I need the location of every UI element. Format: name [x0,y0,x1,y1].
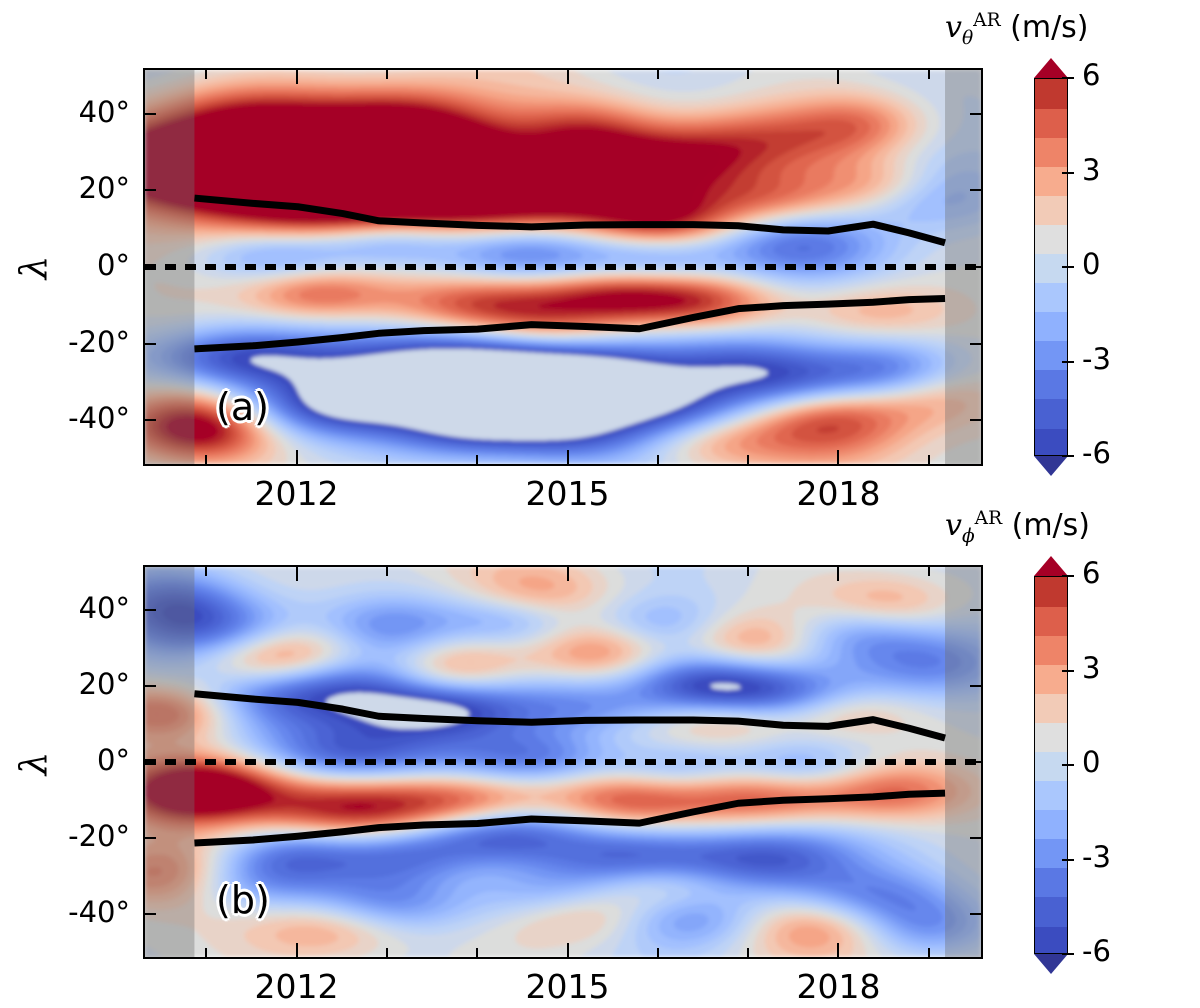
colorbar-tick [1062,859,1074,861]
colorbar-band [1035,195,1067,225]
title-sup-a: AR [973,10,1000,31]
x-tick-minor [386,68,388,79]
x-tick-minor [476,68,478,79]
x-tick-label: 2015 [498,474,638,513]
colorbar-tick [1062,670,1074,672]
colorbar-b-arrow-bottom [1034,954,1068,974]
y-tick-label: 0° [18,248,130,282]
x-tick-major [837,68,839,84]
colorbar-tick-label: 0 [1082,745,1100,779]
x-tick-minor [476,948,478,959]
colorbar-tick-label: 3 [1082,651,1100,685]
x-tick-major [837,450,839,466]
y-tick [970,343,983,345]
colorbar-tick [1062,361,1074,363]
colorbar-band [1035,693,1067,723]
y-tick [970,609,983,611]
x-tick-minor [386,948,388,959]
y-tick [970,685,983,687]
x-tick-major [837,565,839,581]
panel-a-contour-field [145,70,981,464]
colorbar-band [1035,722,1067,752]
figure-root: vθAR (m/s) λ (a) 40°20°0°-20°-40°2012201… [0,0,1200,1008]
colorbar-band [1035,79,1067,109]
colorbar-band [1035,751,1067,781]
title-unit-a: (m/s) [1010,10,1088,45]
y-tick-label: 0° [18,743,130,777]
y-tick [143,189,156,191]
title-sub-b: ϕ [962,526,975,547]
y-tick [143,913,156,915]
x-tick-major [567,68,569,84]
y-tick [970,189,983,191]
colorbar-tick-label: -3 [1082,840,1111,874]
x-tick-minor [386,565,388,576]
panel-a-tag: (a) [216,385,269,429]
title-sub-a: θ [962,28,973,49]
colorbar-a-arrow-bottom [1034,456,1068,476]
colorbar-band [1035,283,1067,313]
y-tick-label: 20° [18,171,130,205]
x-tick-major [567,943,569,959]
panel-a-plot-area [143,68,983,466]
colorbar-tick-label: 6 [1082,556,1100,590]
x-tick-minor [928,455,930,466]
x-tick-label: 2012 [227,474,367,513]
y-tick [970,761,983,763]
y-tick-label: -40° [18,895,130,929]
colorbar-band [1035,897,1067,927]
x-tick-minor [928,68,930,79]
colorbar-tick-label: 3 [1082,153,1100,187]
x-tick-minor [928,565,930,576]
x-tick-major [567,565,569,581]
y-tick [143,419,156,421]
y-tick [143,266,156,268]
x-tick-major [296,565,298,581]
panel-b-tag: (b) [216,878,270,922]
x-tick-minor [205,948,207,959]
y-tick-label: 40° [18,591,130,625]
x-tick-minor [657,68,659,79]
colorbar-band [1035,781,1067,811]
colorbar-a-arrow-top [1034,58,1068,78]
title-sup-b: AR [975,508,1002,529]
colorbar-tick-label: 0 [1082,247,1100,281]
x-tick-label: 2018 [768,967,908,1006]
x-tick-minor [205,455,207,466]
colorbar-band [1035,606,1067,636]
colorbar-band [1035,108,1067,138]
x-tick-label: 2018 [768,474,908,513]
y-tick [143,609,156,611]
colorbar-band [1035,399,1067,429]
y-tick-label: -40° [18,401,130,435]
x-tick-minor [657,565,659,576]
x-tick-minor [386,455,388,466]
x-tick-minor [205,565,207,576]
colorbar-band [1035,839,1067,869]
y-tick [970,113,983,115]
colorbar-tick [1062,764,1074,766]
colorbar-band [1035,312,1067,342]
x-tick-minor [747,68,749,79]
x-tick-major [296,68,298,84]
colorbar-tick-label: 6 [1082,58,1100,92]
x-tick-major [567,450,569,466]
y-tick [970,266,983,268]
colorbar-band [1035,428,1067,456]
x-tick-minor [476,565,478,576]
x-tick-label: 2012 [227,967,367,1006]
y-tick-label: -20° [18,325,130,359]
colorbar-tick [1062,455,1074,457]
x-tick-major [837,943,839,959]
colorbar-tick-label: -6 [1082,934,1111,968]
colorbar-a: 630-3-6 [1030,58,1190,476]
x-tick-minor [928,948,930,959]
y-tick [143,113,156,115]
x-tick-minor [657,455,659,466]
colorbar-tick [1062,953,1074,955]
colorbar-band [1035,635,1067,665]
y-tick-label: 40° [18,95,130,129]
y-tick [970,419,983,421]
x-tick-label: 2015 [498,967,638,1006]
colorbar-title-a: vθAR (m/s) [945,10,1089,49]
colorbar-b: 630-3-6 [1030,556,1190,974]
colorbar-band [1035,577,1067,607]
panel-b-contour-field [145,567,981,957]
colorbar-tick-label: -3 [1082,342,1111,376]
x-tick-major [296,943,298,959]
colorbar-b-arrow-top [1034,556,1068,576]
x-tick-minor [747,565,749,576]
colorbar-tick [1062,77,1074,79]
colorbar-tick-label: -6 [1082,436,1111,470]
x-tick-minor [205,68,207,79]
colorbar-band [1035,224,1067,254]
colorbar-band [1035,253,1067,283]
y-tick [143,837,156,839]
x-tick-major [296,450,298,466]
colorbar-band [1035,926,1067,954]
colorbar-band [1035,370,1067,400]
colorbar-band [1035,868,1067,898]
y-tick [143,343,156,345]
y-tick [970,913,983,915]
title-unit-b: (m/s) [1012,508,1090,543]
colorbar-band [1035,341,1067,371]
x-tick-minor [657,948,659,959]
colorbar-tick [1062,266,1074,268]
colorbar-band [1035,810,1067,840]
y-tick [970,837,983,839]
y-tick-label: -20° [18,819,130,853]
x-tick-minor [747,948,749,959]
colorbar-title-b: vϕAR (m/s) [945,508,1090,547]
colorbar-tick [1062,575,1074,577]
colorbar-tick [1062,172,1074,174]
y-tick-label: 20° [18,667,130,701]
y-tick [143,761,156,763]
x-tick-minor [476,455,478,466]
y-tick [143,685,156,687]
x-tick-minor [747,455,749,466]
colorbar-band [1035,137,1067,167]
